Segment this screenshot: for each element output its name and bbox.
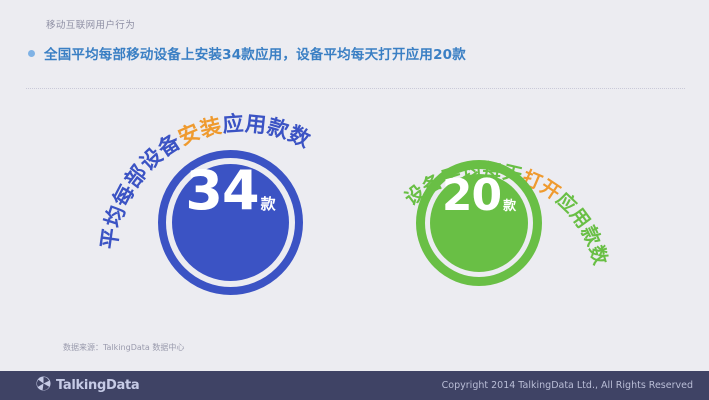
page-title: 全国平均每部移动设备上安装34款应用，设备平均每天打开应用20款 [44, 43, 466, 63]
gauge-opened: 20 款 [416, 160, 542, 286]
header-divider [26, 88, 685, 89]
brand-name: TalkingData [56, 378, 139, 393]
gauge-label-part-3: 应用款数 [222, 111, 315, 152]
copyright-text: Copyright 2014 TalkingData Ltd., All Rig… [442, 380, 693, 391]
source-note: 数据来源：TalkingData 数据中心 [63, 342, 184, 353]
slide-canvas: 移动互联网用户行为 全国平均每部移动设备上安装34款应用，设备平均每天打开应用2… [0, 0, 709, 400]
gauge-label-part-2-accent: 安装 [175, 113, 224, 150]
gauge-unit-installed: 款 [261, 197, 276, 212]
footer-bar: TalkingData Copyright 2014 TalkingData L… [0, 371, 709, 400]
slide-kicker: 移动互联网用户行为 [46, 17, 135, 31]
gauge-value-installed: 34 [185, 164, 258, 218]
slide-headline-row: 全国平均每部移动设备上安装34款应用，设备平均每天打开应用20款 [28, 43, 466, 63]
gauge-installed: 34 款 [158, 150, 303, 295]
gauges-container: 平均每部设备安装应用款数 34 款 设备平均每天打开应用款数 [0, 100, 709, 340]
pinwheel-logo-icon [36, 376, 51, 395]
gauge-disk-installed: 34 款 [172, 164, 289, 281]
bullet-dot-icon [28, 50, 35, 57]
gauge-label-part-3-opened: 应用款数 [552, 188, 613, 269]
gauge-unit-opened: 款 [503, 200, 516, 213]
gauge-value-opened: 20 [442, 174, 501, 218]
brand-logo: TalkingData [36, 376, 139, 395]
gauge-disk-opened: 20 款 [430, 174, 528, 272]
